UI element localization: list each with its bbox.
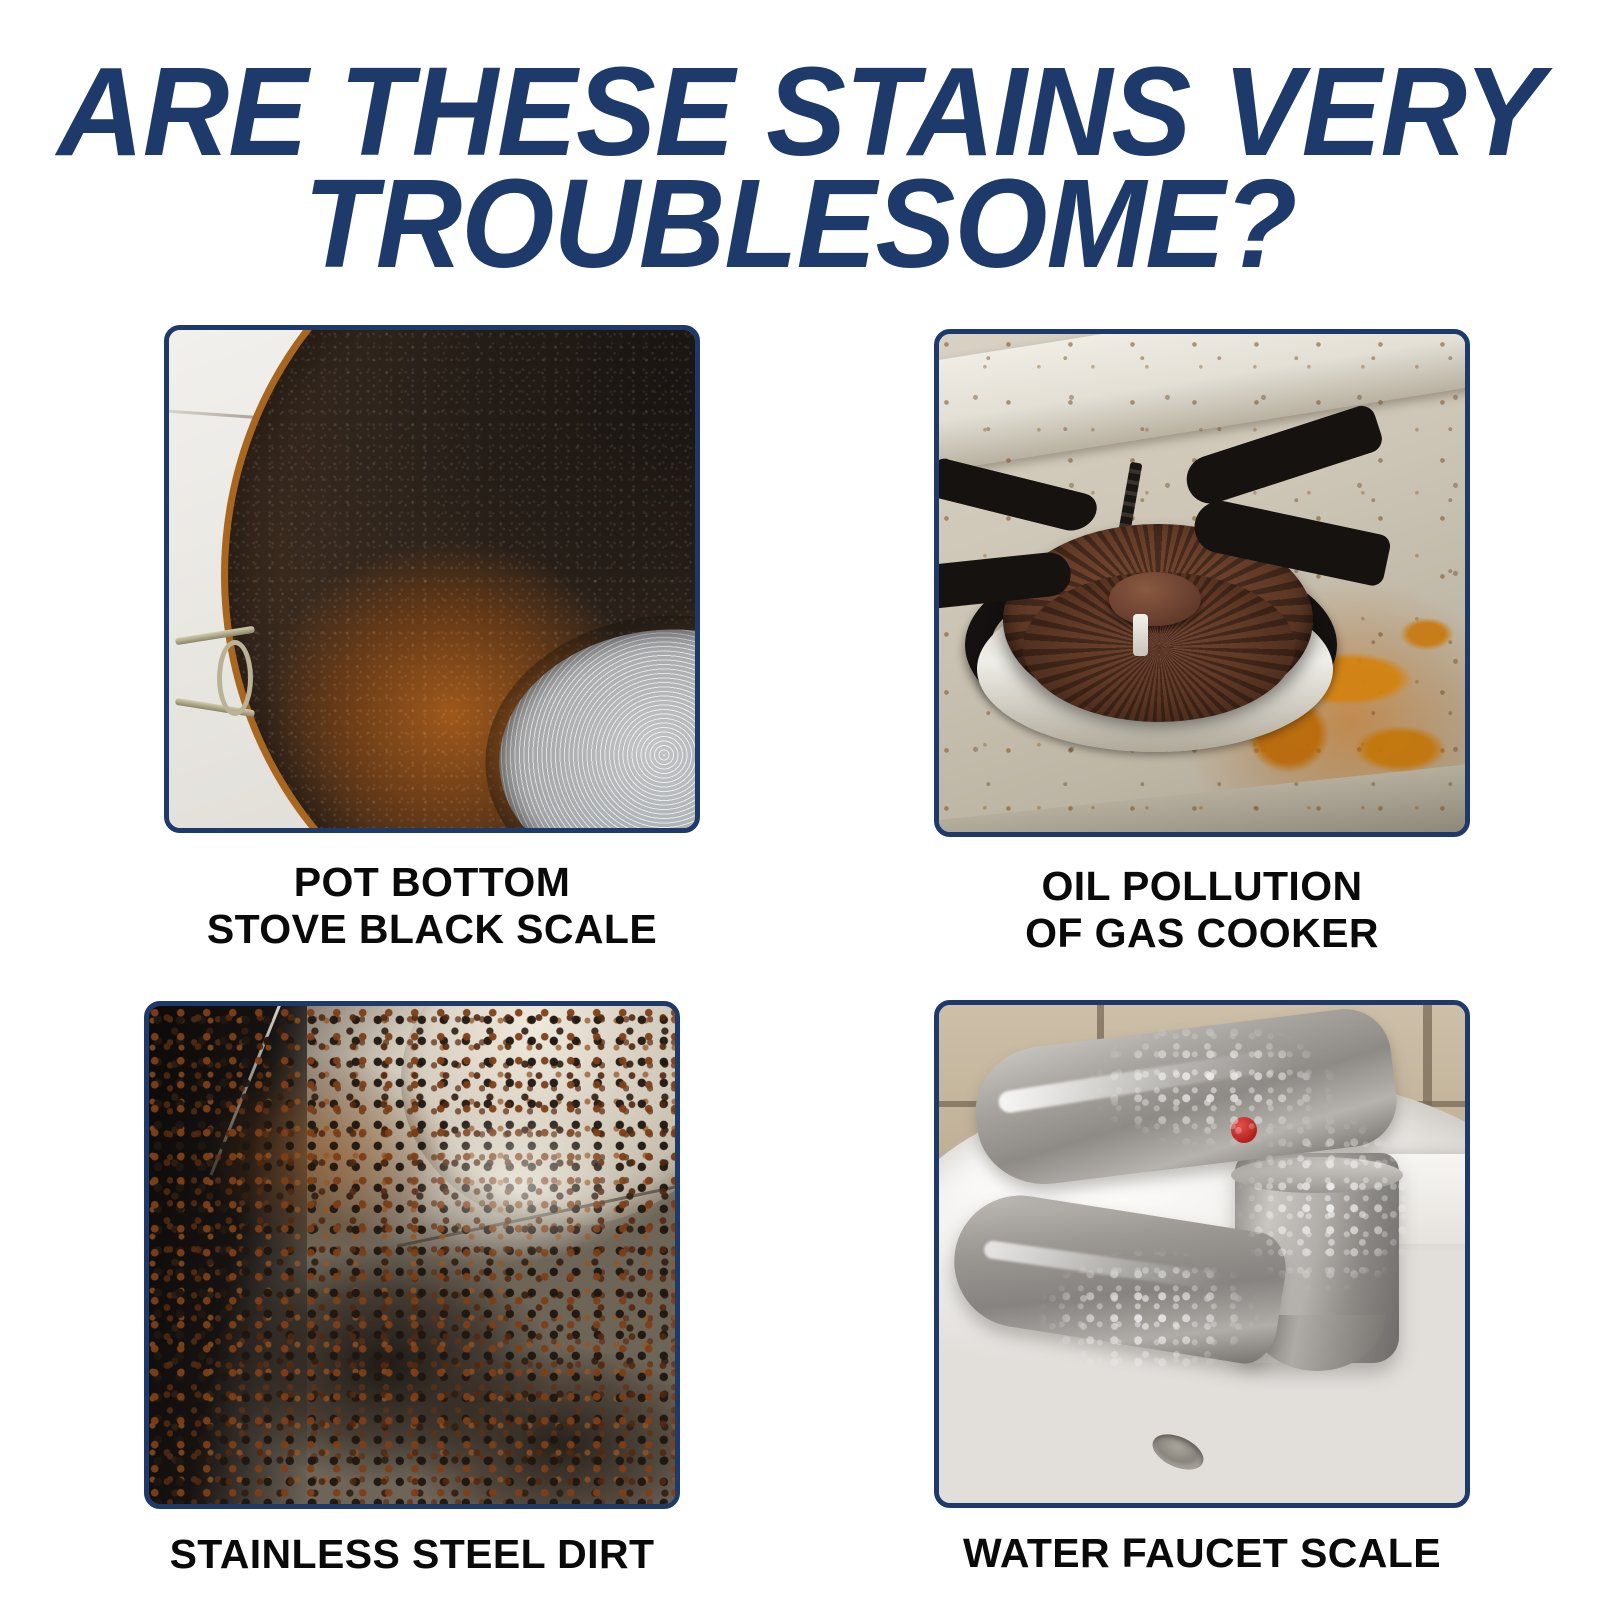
stain-card-caption: STAINLESS STEEL DIRT [144,1531,680,1578]
photo-frame [934,1000,1470,1508]
gas-cooker-grease-photo [939,334,1465,832]
stainless-steel-dirt-photo [149,1006,675,1504]
trivet-arm [939,457,1104,535]
faucet-collar [1231,1157,1403,1193]
stain-card-water-faucet: WATER FAUCET SCALE [934,1000,1470,1577]
specular-highlight [149,1006,675,1504]
burner-ignitor-pin [1133,614,1148,656]
page-title: ARE THESE STAINS VERY TROUBLESOME? [40,56,1560,280]
burner-center-cap [1109,572,1201,626]
hot-water-indicator-dot [1231,1117,1257,1143]
stain-example-grid: POT BOTTOM STOVE BLACK SCALE [0,316,1600,1576]
stain-card-pot-bottom: POT BOTTOM STOVE BLACK SCALE [164,325,700,953]
burnt-pot-bottom-photo [169,330,695,828]
photo-frame [144,1001,680,1509]
stain-card-gas-cooker: OIL POLLUTION OF GAS COOKER [934,329,1470,957]
stain-card-caption: WATER FAUCET SCALE [934,1530,1470,1577]
burner-assembly [947,454,1377,704]
water-faucet-scale-photo [939,1005,1465,1503]
photo-frame [164,325,700,833]
stain-card-caption: POT BOTTOM STOVE BLACK SCALE [164,859,700,953]
photo-frame [934,329,1470,837]
pan-handle-bracket [175,626,261,722]
stain-card-stainless-steel: STAINLESS STEEL DIRT [144,1001,680,1578]
stain-card-caption: OIL POLLUTION OF GAS COOKER [934,863,1470,957]
